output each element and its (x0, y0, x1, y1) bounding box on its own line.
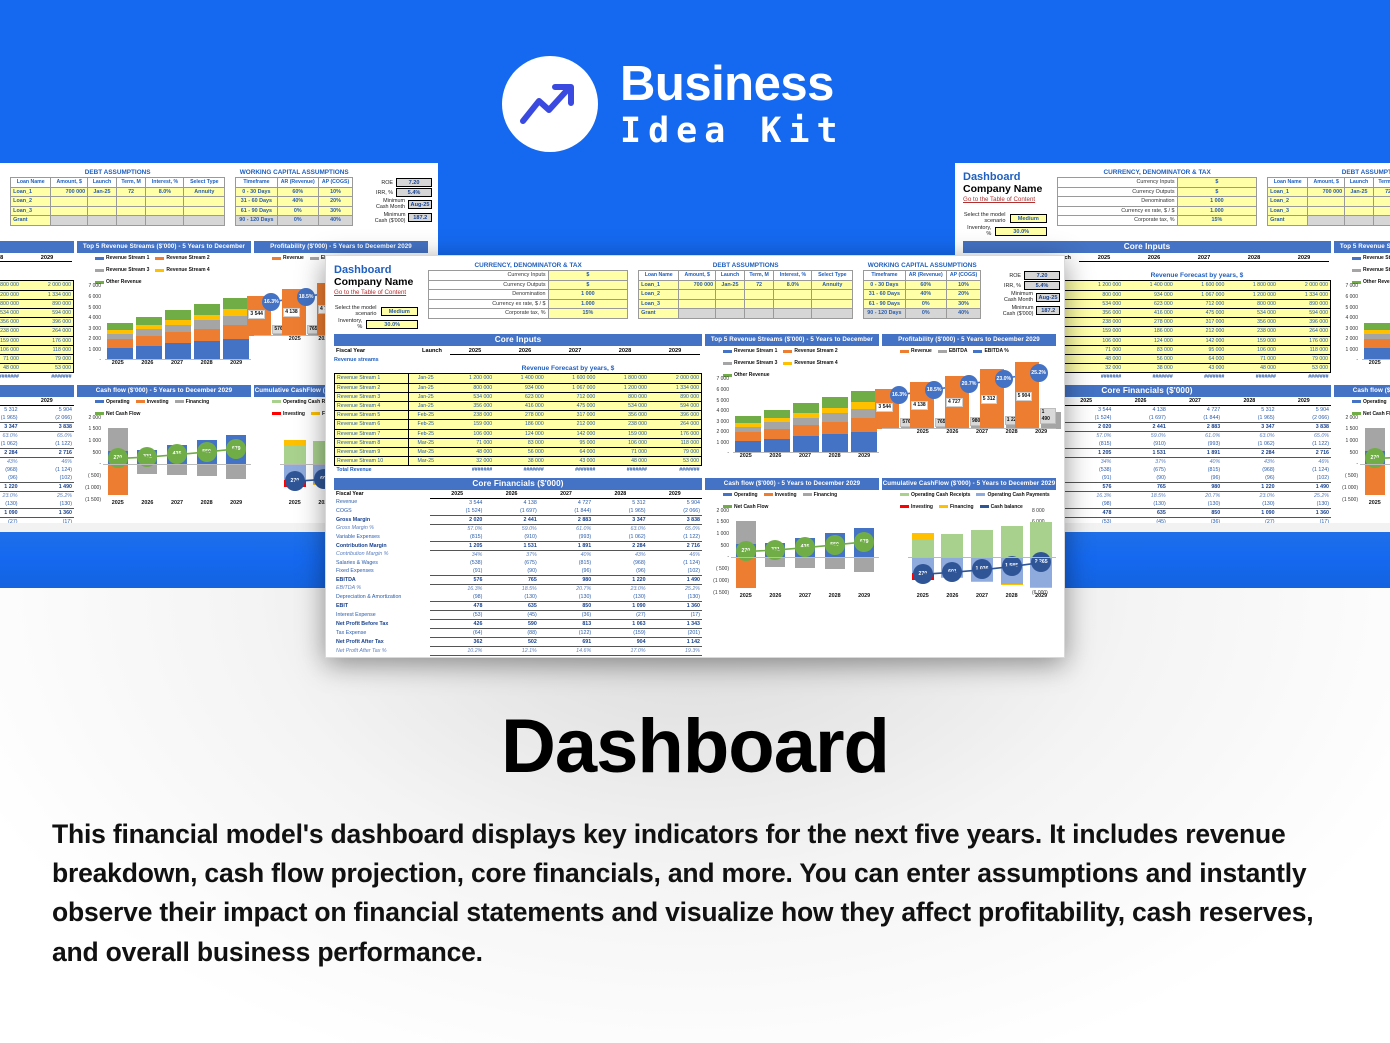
cell-value: (201) (648, 628, 702, 637)
cell-value[interactable]: 1.000 (1177, 206, 1257, 216)
cell-value[interactable] (1308, 206, 1345, 216)
stream-value[interactable]: 1 200 000 (443, 374, 495, 383)
table-row: EBITDA 5767659801 2201 490 (0, 482, 74, 491)
cell-value[interactable] (774, 290, 812, 300)
y-axis-label: - (705, 450, 729, 456)
cell-value[interactable]: 40% (946, 309, 980, 319)
cell-value[interactable]: 20% (318, 197, 352, 207)
stream-launch[interactable]: Jan-25 (409, 383, 443, 392)
stream-name[interactable]: Revenue Stream 10 (335, 457, 409, 466)
stream-value[interactable]: 64 000 (1175, 355, 1227, 364)
stream-value[interactable]: 1 067 000 (546, 383, 598, 392)
cell-value[interactable]: $ (1177, 178, 1257, 188)
stream-value[interactable]: 56 000 (1123, 355, 1175, 364)
stream-value[interactable]: 1 334 000 (649, 383, 702, 392)
stream-name[interactable]: Revenue Stream 9 (335, 448, 409, 457)
stream-value[interactable]: 264 000 (21, 327, 74, 336)
stream-value[interactable]: 142 000 (546, 429, 598, 438)
year-header: 2027 (550, 348, 600, 355)
stream-value[interactable]: 38 000 (1123, 364, 1175, 373)
stream-value[interactable]: 176 000 (1278, 336, 1331, 345)
cell-value[interactable] (184, 216, 225, 226)
stream-value[interactable]: 186 000 (494, 420, 546, 429)
cell-value[interactable] (88, 206, 117, 216)
total-value: ####### (1226, 373, 1278, 382)
stream-value[interactable]: 64 000 (546, 448, 598, 457)
stream-value[interactable]: 48 000 (1072, 355, 1124, 364)
cell-value[interactable] (716, 299, 745, 309)
cell-value[interactable]: 15% (548, 309, 628, 319)
stream-value[interactable]: 2 000 000 (21, 281, 74, 290)
stream-launch[interactable]: Feb-25 (409, 420, 443, 429)
stream-value[interactable]: 95 000 (1175, 345, 1227, 354)
cell-value[interactable]: Annuity (812, 280, 853, 290)
scenario-select[interactable]: Medium (381, 307, 419, 316)
table-of-content-link[interactable]: Go to the Table of Content (963, 196, 1047, 203)
stream-value[interactable]: 118 000 (21, 345, 74, 354)
stream-value[interactable]: 71 000 (443, 438, 495, 447)
cell-value[interactable] (812, 299, 853, 309)
stream-value[interactable]: 890 000 (21, 299, 74, 308)
stream-value[interactable]: 1 800 000 (597, 374, 649, 383)
cell-value: 2 883 (1168, 422, 1222, 431)
cell-value[interactable]: Grant (1268, 216, 1308, 226)
cell-value[interactable] (184, 197, 225, 207)
cell-value[interactable]: 8.0% (146, 187, 184, 197)
cell-value[interactable]: 40% (318, 216, 352, 226)
stream-value[interactable]: 71 000 (1072, 345, 1124, 354)
bar-segment (735, 423, 761, 427)
legend-label: Revenue Stream 2 (166, 255, 209, 261)
stream-value[interactable]: 396 000 (649, 411, 702, 420)
cell-value[interactable]: 0% (905, 299, 946, 309)
legend-swatch (973, 350, 982, 353)
stream-value[interactable]: 2 000 000 (649, 374, 702, 383)
cell-value[interactable]: Annuity (184, 187, 225, 197)
cell-value: 34% (430, 550, 484, 559)
cell-value[interactable] (1373, 216, 1390, 226)
cell-value[interactable] (812, 309, 853, 319)
cell-value[interactable]: 8.0% (774, 280, 812, 290)
stream-value[interactable]: 212 000 (546, 420, 598, 429)
cell-value[interactable] (1308, 216, 1345, 226)
cell-value[interactable]: Loan_3 (11, 206, 51, 216)
table-row: Revenue Stream 7 Feb-25 106 000124 00014… (335, 429, 702, 438)
scenario-select[interactable]: Medium (1010, 214, 1048, 223)
stream-value[interactable]: 106 000 (0, 345, 21, 354)
x-axis-label: 2025 (1360, 360, 1390, 366)
cell-value[interactable] (1373, 197, 1390, 207)
cell-value[interactable] (679, 290, 716, 300)
stream-name[interactable]: Revenue Stream 7 (335, 429, 409, 438)
cell-value[interactable] (679, 309, 716, 319)
stream-value[interactable]: 594 000 (649, 401, 702, 410)
stream-value[interactable]: 71 000 (597, 448, 649, 457)
cell-value[interactable]: Loan_2 (11, 197, 51, 207)
stream-value[interactable]: 278 000 (1123, 318, 1175, 327)
cell-value: 20.7% (1168, 491, 1222, 500)
cell-value[interactable] (1345, 197, 1374, 207)
cell-value[interactable]: 60% (277, 187, 318, 197)
year-header: 2026 (1129, 255, 1179, 262)
cell-value: 1 531 (484, 541, 538, 550)
stream-value[interactable]: 32 000 (1072, 364, 1124, 373)
cell-value[interactable] (51, 216, 88, 226)
cell-value: 4 727 (1168, 405, 1222, 414)
cell-value[interactable]: Loan_3 (1268, 206, 1308, 216)
stream-value[interactable]: 118 000 (649, 438, 702, 447)
stream-value[interactable]: 71 000 (0, 355, 21, 364)
bar-segment (822, 408, 848, 414)
stream-name[interactable]: Revenue Stream 6 (335, 420, 409, 429)
stream-name[interactable]: Revenue Stream 5 (335, 411, 409, 420)
Net Cash Flow-line (1334, 418, 1390, 500)
stream-value[interactable]: 159 000 (597, 429, 649, 438)
stream-value[interactable]: 159 000 (443, 420, 495, 429)
stream-value[interactable]: 264 000 (1278, 327, 1331, 336)
top5-revenue-title: Top 5 Revenue Streams ($'000) - 5 Years … (1334, 241, 1390, 253)
cell-value[interactable]: Loan_1 (639, 280, 679, 290)
working-capital-title: WORKING CAPITAL ASSUMPTIONS (235, 169, 353, 176)
cell-value[interactable]: 10% (946, 280, 980, 290)
stream-value[interactable]: 1 600 000 (546, 374, 598, 383)
revenue-forecast-table: Revenue Stream 1 Jan-25 1 200 0001 400 0… (334, 373, 702, 474)
stream-value[interactable]: 317 000 (546, 411, 598, 420)
stream-value[interactable]: 317 000 (1175, 318, 1227, 327)
stream-value[interactable]: 623 000 (494, 392, 546, 401)
stream-value[interactable]: 890 000 (1278, 299, 1331, 308)
cell-value[interactable]: 700 000 (1308, 187, 1345, 197)
cell-value[interactable] (88, 197, 117, 207)
cell-value[interactable]: 0% (905, 309, 946, 319)
stream-value[interactable]: 43 000 (546, 457, 598, 466)
stream-value[interactable]: 396 000 (1278, 318, 1331, 327)
stream-value[interactable]: 159 000 (1226, 336, 1278, 345)
stream-value[interactable]: 95 000 (546, 438, 598, 447)
stream-value[interactable]: 278 000 (494, 411, 546, 420)
cell-value[interactable]: 30% (318, 206, 352, 216)
cell-value[interactable] (146, 197, 184, 207)
Net Cash Flow-line (77, 418, 251, 500)
x-axis-label: 2027 (162, 500, 192, 506)
stream-value[interactable]: 800 000 (597, 392, 649, 401)
stream-value[interactable]: 534 000 (1072, 299, 1124, 308)
bar-segment (223, 309, 249, 315)
stream-value[interactable]: 1 800 000 (1226, 281, 1278, 290)
stream-value[interactable]: 238 000 (443, 411, 495, 420)
cell-value[interactable]: $ (548, 280, 628, 290)
stream-value[interactable]: 1 200 000 (0, 290, 21, 299)
x-axis-label: 2028 (192, 500, 222, 506)
stream-value[interactable]: 48 000 (1226, 364, 1278, 373)
y-axis-label: 6 000 (77, 294, 101, 300)
table-of-content-link[interactable]: Go to the Table of Content (334, 289, 418, 296)
legend-item: Net Cash Flow (723, 504, 768, 510)
stream-value[interactable]: 534 000 (1226, 308, 1278, 317)
stream-value[interactable]: 71 000 (1226, 355, 1278, 364)
stream-value[interactable]: 159 000 (0, 336, 21, 345)
stream-value[interactable]: 79 000 (21, 355, 74, 364)
cell-value[interactable] (716, 290, 745, 300)
stream-value[interactable]: 124 000 (494, 429, 546, 438)
cell-value[interactable]: Grant (11, 216, 51, 226)
cell-value: 23.0% (0, 491, 20, 500)
stream-name[interactable]: Revenue Stream 4 (335, 401, 409, 410)
cell-value[interactable] (1308, 197, 1345, 207)
stream-value[interactable]: 118 000 (1278, 345, 1331, 354)
cell-value[interactable] (774, 299, 812, 309)
revenue-data-label: 3 544 (248, 310, 265, 319)
cell-value[interactable] (51, 206, 88, 216)
stream-value[interactable]: 238 000 (1072, 318, 1124, 327)
stream-launch[interactable]: Jan-25 (409, 401, 443, 410)
stream-name[interactable]: Revenue Stream 8 (335, 438, 409, 447)
cell-value[interactable] (744, 309, 774, 319)
cell-value: (2 066) (648, 507, 702, 516)
cell-value[interactable]: 30% (946, 299, 980, 309)
stream-value[interactable]: 106 000 (1072, 336, 1124, 345)
cell-value[interactable] (184, 206, 225, 216)
cell-value: 1 063 (593, 619, 647, 628)
cell-value[interactable]: 40% (277, 197, 318, 207)
cell-value[interactable]: 0% (277, 206, 318, 216)
stream-value[interactable]: 38 000 (494, 457, 546, 466)
table-row: Revenue Stream 9 Mar-25 48 00056 00064 0… (0, 355, 74, 364)
stream-value[interactable]: 623 000 (1123, 299, 1175, 308)
stream-value[interactable]: 43 000 (1175, 364, 1227, 373)
forecast-title: Revenue Forecast by years, $ (0, 272, 74, 279)
ebitda-data-label: 1 490 (1040, 408, 1056, 424)
bar-segment (793, 418, 819, 426)
stream-value[interactable]: 1 800 000 (0, 281, 21, 290)
cell-value[interactable]: Jan-25 (1345, 187, 1374, 197)
cell-value[interactable] (744, 299, 774, 309)
cell-value: 765 (1113, 482, 1167, 491)
cell-value[interactable] (146, 206, 184, 216)
stream-value[interactable]: 1 334 000 (1278, 290, 1331, 299)
cell-value[interactable]: Loan_1 (11, 187, 51, 197)
cell-value[interactable] (716, 309, 745, 319)
stream-launch[interactable]: Jan-25 (409, 374, 443, 383)
stream-value[interactable]: 53 000 (21, 364, 74, 373)
cell-value[interactable] (116, 216, 146, 226)
cell-value[interactable] (51, 197, 88, 207)
year-header: 2028 (1229, 255, 1279, 262)
cell-value[interactable]: 15% (1177, 216, 1257, 226)
legend-swatch (900, 505, 909, 508)
legend-label: Net Cash Flow (1363, 411, 1390, 417)
stream-value[interactable]: 416 000 (494, 401, 546, 410)
year-header: 2025 (430, 490, 484, 499)
cell-value[interactable]: 700 000 (51, 187, 88, 197)
stream-value[interactable]: 1 400 000 (1123, 281, 1175, 290)
cell-value[interactable] (88, 216, 117, 226)
stream-value[interactable]: 800 000 (443, 383, 495, 392)
cell-value[interactable]: 1 000 (1177, 197, 1257, 207)
cell-value[interactable] (116, 197, 146, 207)
stream-value[interactable]: 48 000 (597, 457, 649, 466)
cell-value[interactable]: 72 (116, 187, 146, 197)
stream-value[interactable]: 186 000 (1123, 327, 1175, 336)
stream-value[interactable]: 53 000 (1278, 364, 1331, 373)
stream-value[interactable]: 534 000 (0, 308, 21, 317)
scenario-label: Select the model scenario (963, 212, 1006, 224)
inventory-input[interactable]: 30.0% (366, 320, 418, 329)
cell-value[interactable]: 20% (946, 290, 980, 300)
stream-launch[interactable]: Mar-25 (409, 457, 443, 466)
y-axis-label: 2 000 (705, 429, 729, 435)
cell-value[interactable]: Loan_2 (1268, 197, 1308, 207)
stream-launch[interactable]: Jan-25 (409, 392, 443, 401)
column-header: Launch (716, 271, 745, 281)
stream-value[interactable]: 124 000 (1123, 336, 1175, 345)
stream-value[interactable]: 800 000 (1226, 299, 1278, 308)
cell-value[interactable]: Loan_3 (639, 299, 679, 309)
stream-value[interactable]: 238 000 (0, 327, 21, 336)
stream-value[interactable]: 1 200 000 (597, 383, 649, 392)
cell-value[interactable] (812, 290, 853, 300)
ebitda-percent-bubble: 18.5% (925, 381, 943, 399)
stream-value[interactable]: 356 000 (443, 401, 495, 410)
cell-value[interactable] (1345, 216, 1374, 226)
cell-value: (27) (593, 610, 647, 619)
stream-value[interactable]: 176 000 (649, 429, 702, 438)
stream-value[interactable]: 106 000 (1226, 345, 1278, 354)
stream-value[interactable]: 83 000 (494, 438, 546, 447)
stream-value[interactable]: 1 400 000 (494, 374, 546, 383)
cell-value: (1 965) (593, 507, 647, 516)
stream-value[interactable]: 712 000 (1175, 299, 1227, 308)
stream-value[interactable]: 416 000 (1123, 308, 1175, 317)
cell-value[interactable]: 40% (905, 290, 946, 300)
cell-value[interactable]: 0% (277, 216, 318, 226)
stream-value[interactable]: 106 000 (597, 438, 649, 447)
cell-value[interactable] (774, 309, 812, 319)
cell-value[interactable]: Jan-25 (716, 280, 745, 290)
stream-value[interactable]: 534 000 (597, 401, 649, 410)
stream-value[interactable]: 594 000 (1278, 308, 1331, 317)
cell-value[interactable]: 1 000 (548, 290, 628, 300)
stream-value[interactable]: 48 000 (0, 364, 21, 373)
stream-name[interactable]: Revenue Stream 3 (335, 392, 409, 401)
stream-value[interactable]: 356 000 (0, 318, 21, 327)
cell-value: (2 066) (20, 414, 74, 423)
cell-value: 5 312 (1222, 405, 1276, 414)
cell-value: 2 284 (0, 448, 20, 457)
cell-value[interactable]: Jan-25 (88, 187, 117, 197)
stream-value[interactable]: 79 000 (1278, 355, 1331, 364)
cell-value[interactable]: $ (548, 271, 628, 281)
x-axis-label: 2025 (103, 360, 133, 366)
stream-launch[interactable]: Mar-25 (409, 438, 443, 447)
stream-launch[interactable]: Feb-25 (409, 429, 443, 438)
cell-value[interactable]: $ (1177, 187, 1257, 197)
stream-value[interactable]: 475 000 (546, 401, 598, 410)
stream-value[interactable]: 79 000 (649, 448, 702, 457)
inventory-input[interactable]: 30.0% (995, 227, 1047, 236)
cell-value[interactable]: 10% (318, 187, 352, 197)
stream-value[interactable]: 1 067 000 (1175, 290, 1227, 299)
bar-segment (822, 422, 848, 435)
stream-value[interactable]: 176 000 (21, 336, 74, 345)
stream-value[interactable]: 238 000 (1226, 327, 1278, 336)
table-row: EBITDA % 16.3%18.5%20.7%23.0%25.2% (0, 491, 74, 500)
stream-value[interactable]: 712 000 (546, 392, 598, 401)
cell-value[interactable] (1373, 206, 1390, 216)
stream-value[interactable]: 32 000 (443, 457, 495, 466)
stream-value[interactable]: 83 000 (1123, 345, 1175, 354)
stream-value[interactable]: 356 000 (597, 411, 649, 420)
cell-value: 765 (484, 575, 538, 584)
stream-value[interactable]: 159 000 (1072, 327, 1124, 336)
cell-value[interactable]: 60% (905, 280, 946, 290)
stream-value[interactable]: 212 000 (1175, 327, 1227, 336)
table-row: Loan_2 (11, 197, 225, 207)
stream-value[interactable]: 2 000 000 (1278, 281, 1331, 290)
stream-value[interactable]: 1 200 000 (1072, 281, 1124, 290)
cell-value[interactable]: Loan_2 (639, 290, 679, 300)
cell-value[interactable] (1345, 206, 1374, 216)
stream-value[interactable]: 534 000 (443, 392, 495, 401)
stream-value[interactable]: 53 000 (649, 457, 702, 466)
stream-value[interactable]: 106 000 (443, 429, 495, 438)
stream-value[interactable]: 934 000 (494, 383, 546, 392)
stream-value[interactable]: 594 000 (21, 308, 74, 317)
stream-value[interactable]: 934 000 (1123, 290, 1175, 299)
stream-value[interactable]: 396 000 (21, 318, 74, 327)
stream-value[interactable]: 800 000 (1072, 290, 1124, 299)
stream-name[interactable]: Revenue Stream 1 (335, 374, 409, 383)
stream-name[interactable]: Revenue Stream 2 (335, 383, 409, 392)
cell-value[interactable]: 72 (744, 280, 774, 290)
stream-value[interactable]: 1 334 000 (21, 290, 74, 299)
fiscal-year-label: Fiscal Year (336, 348, 414, 355)
stream-value[interactable]: 238 000 (597, 420, 649, 429)
cell-value: 65.0% (1277, 431, 1331, 440)
table-row: Revenue Stream 7 Feb-25 106 000124 00014… (0, 336, 74, 345)
stream-value[interactable]: 264 000 (649, 420, 702, 429)
stream-value[interactable]: 356 000 (1226, 318, 1278, 327)
stream-value[interactable]: 800 000 (0, 299, 21, 308)
stream-value[interactable]: 48 000 (443, 448, 495, 457)
cell-value[interactable]: Loan_1 (1268, 187, 1308, 197)
stream-value[interactable]: 1 200 000 (1226, 290, 1278, 299)
cell-value[interactable] (146, 216, 184, 226)
dashboard-preview-center[interactable]: Dashboard Company Name Go to the Table o… (325, 255, 1065, 658)
cell-value: 3 838 (1277, 422, 1331, 431)
legend-label: Investing (775, 492, 797, 498)
stream-launch[interactable]: Feb-25 (409, 411, 443, 420)
cell-value[interactable]: Grant (639, 309, 679, 319)
cell-value[interactable] (679, 299, 716, 309)
stream-value[interactable]: 475 000 (1175, 308, 1227, 317)
y-axis-label: 1 000 (1334, 347, 1358, 353)
legend-item: Revenue Stream 2 (155, 255, 209, 261)
stream-value[interactable]: 142 000 (1175, 336, 1227, 345)
stream-value[interactable]: 890 000 (649, 392, 702, 401)
stream-value[interactable]: 56 000 (494, 448, 546, 457)
cell-value[interactable]: 72 (1373, 187, 1390, 197)
cell-value[interactable]: 700 000 (679, 280, 716, 290)
cell-value[interactable] (744, 290, 774, 300)
cell-value[interactable] (116, 206, 146, 216)
stream-value[interactable]: 356 000 (1072, 308, 1124, 317)
bar-segment (1364, 339, 1390, 347)
cell-value[interactable]: 1.000 (548, 299, 628, 309)
stream-value[interactable]: 1 600 000 (1175, 281, 1227, 290)
cell-value: 2 020 (1059, 422, 1113, 431)
stream-launch[interactable]: Mar-25 (409, 448, 443, 457)
